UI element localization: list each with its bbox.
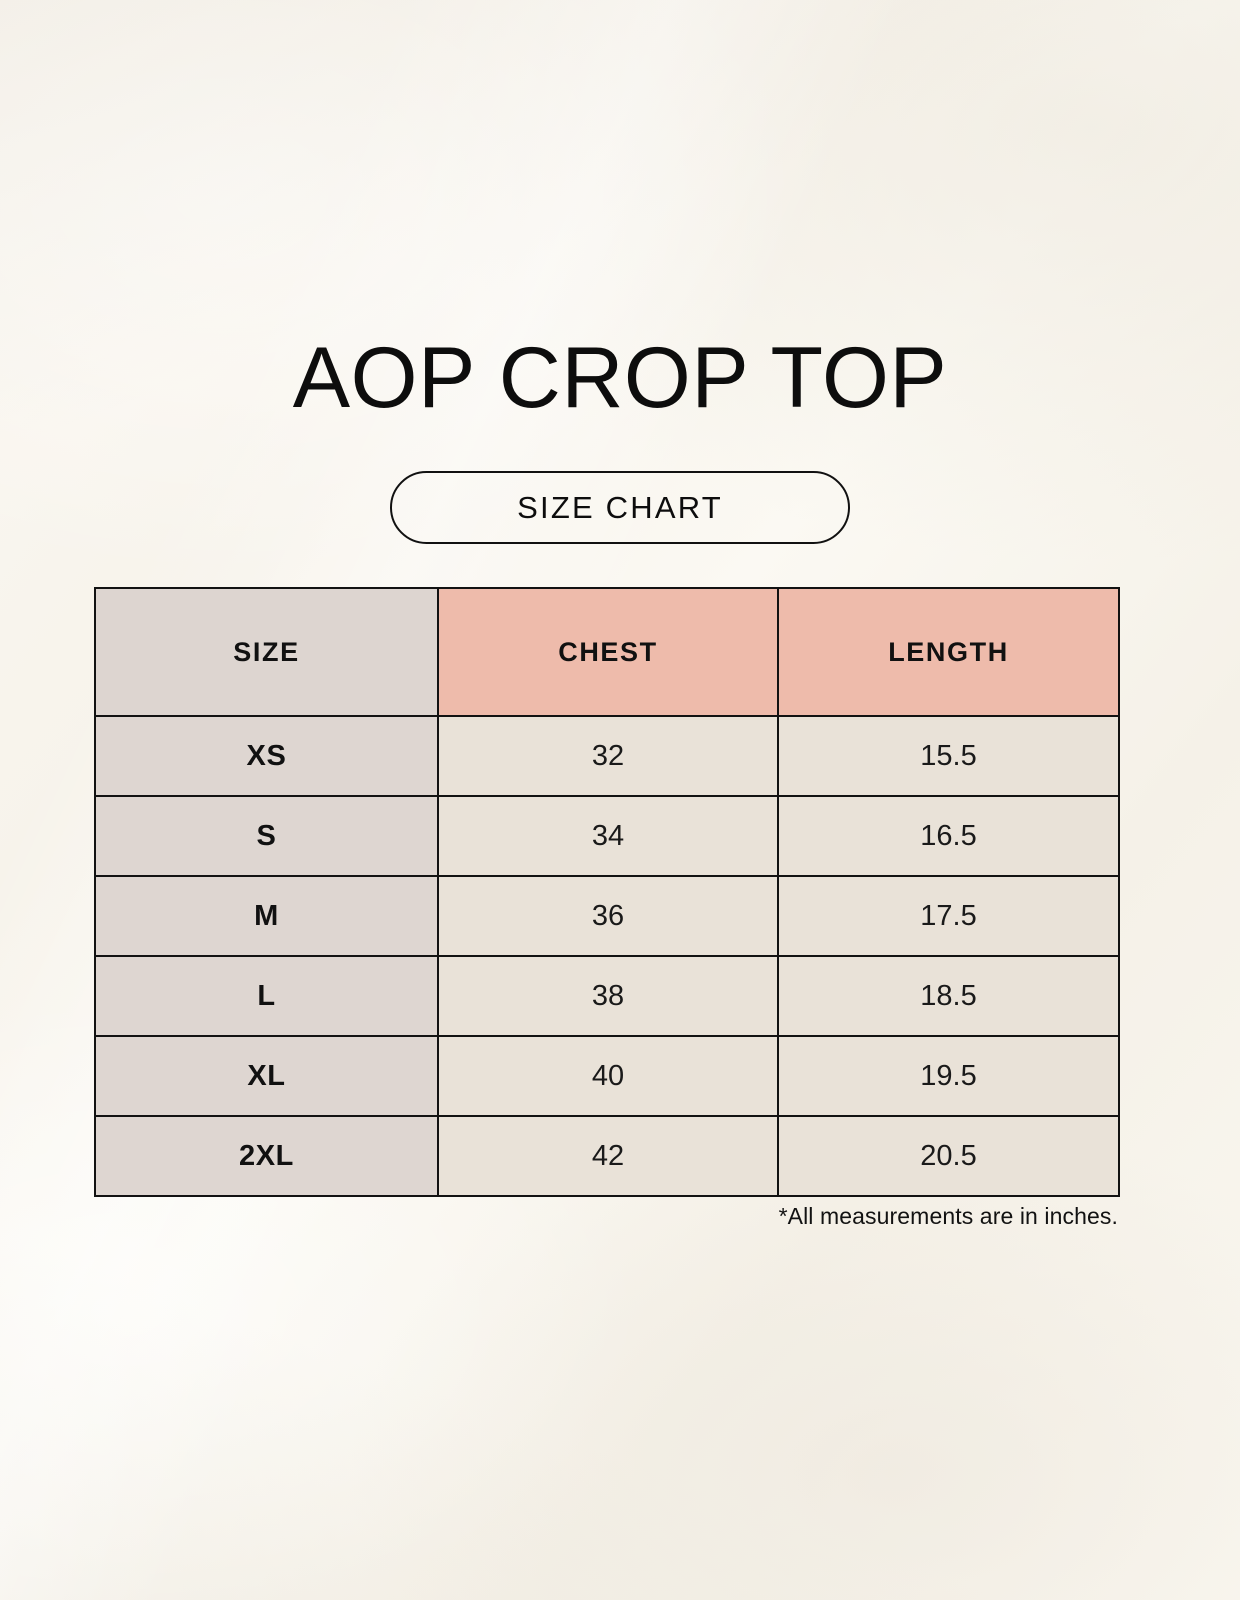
table-header-row: SIZE CHEST LENGTH [95,588,1119,716]
page-title: AOP CROP TOP [0,335,1240,421]
cell-size: S [95,796,438,876]
cell-size: XS [95,716,438,796]
column-header-chest: CHEST [438,588,778,716]
measurement-units-note: *All measurements are in inches. [94,1203,1118,1230]
size-chart-badge-label: SIZE CHART [517,490,723,526]
table-row: XS 32 15.5 [95,716,1119,796]
table-body: XS 32 15.5 S 34 16.5 M 36 17.5 L 38 [95,716,1119,1196]
cell-chest: 32 [438,716,778,796]
table-row: XL 40 19.5 [95,1036,1119,1116]
cell-size: 2XL [95,1116,438,1196]
size-chart-page: AOP CROP TOP SIZE CHART SIZE CHEST LENGT… [0,0,1240,1600]
cell-chest: 38 [438,956,778,1036]
table-row: M 36 17.5 [95,876,1119,956]
cell-size: M [95,876,438,956]
column-header-length: LENGTH [778,588,1119,716]
cell-size: XL [95,1036,438,1116]
cell-chest: 42 [438,1116,778,1196]
column-header-size: SIZE [95,588,438,716]
cell-size: L [95,956,438,1036]
cell-length: 16.5 [778,796,1119,876]
cell-chest: 36 [438,876,778,956]
table-row: L 38 18.5 [95,956,1119,1036]
size-chart-badge: SIZE CHART [390,471,850,544]
table-row: 2XL 42 20.5 [95,1116,1119,1196]
table-row: S 34 16.5 [95,796,1119,876]
cell-length: 17.5 [778,876,1119,956]
cell-length: 20.5 [778,1116,1119,1196]
table-header: SIZE CHEST LENGTH [95,588,1119,716]
cell-length: 19.5 [778,1036,1119,1116]
cell-chest: 34 [438,796,778,876]
cell-length: 15.5 [778,716,1119,796]
size-table: SIZE CHEST LENGTH XS 32 15.5 S 34 16.5 M [94,587,1120,1197]
size-table-container: SIZE CHEST LENGTH XS 32 15.5 S 34 16.5 M [94,587,1118,1197]
cell-length: 18.5 [778,956,1119,1036]
cell-chest: 40 [438,1036,778,1116]
